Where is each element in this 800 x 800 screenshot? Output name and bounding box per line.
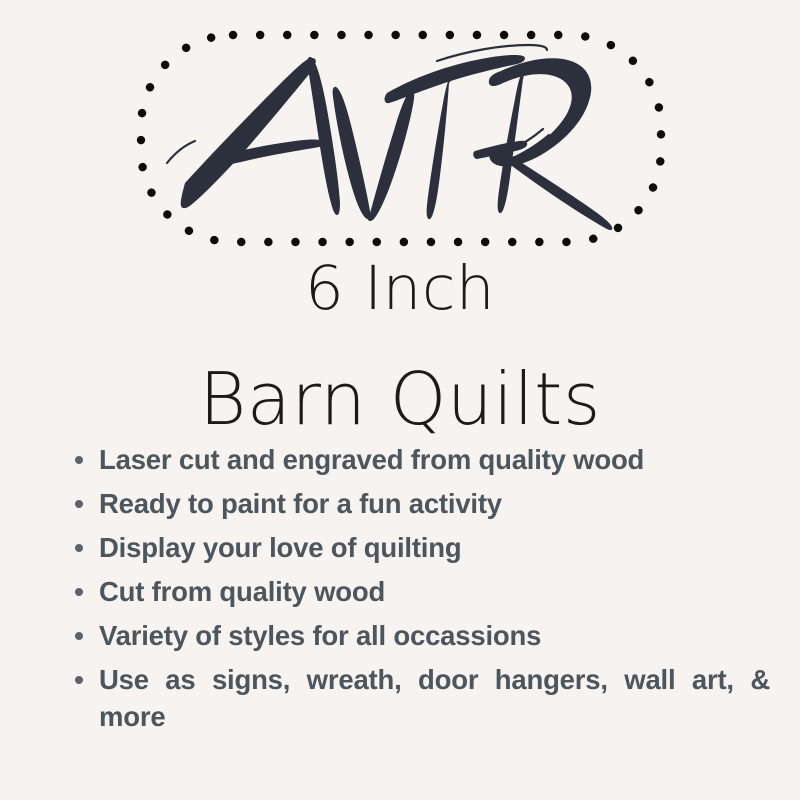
feature-text: Ready to paint for a fun activity (99, 485, 770, 522)
bullet-dot-icon (75, 632, 83, 640)
feature-text: Laser cut and engraved from quality wood (99, 441, 770, 478)
list-item: Laser cut and engraved from quality wood (70, 441, 770, 478)
list-item: Display your love of quilting (70, 529, 770, 566)
list-item: Variety of styles for all occassions (70, 617, 770, 654)
feature-list: Laser cut and engraved from quality wood… (70, 441, 770, 742)
bullet-dot-icon (75, 544, 83, 552)
bullet-dot-icon (75, 588, 83, 596)
bullet-dot-icon (75, 676, 83, 684)
page-title: Barn Quilts (0, 319, 800, 435)
list-item: Use as signs, wreath, door hangers, wall… (70, 661, 770, 735)
product-info-poster: 6 Inch Barn Quilts Laser cut and engrave… (0, 0, 800, 800)
avtr-logo-badge (137, 31, 665, 246)
list-item: Ready to paint for a fun activity (70, 485, 770, 522)
avtr-script-wordmark-icon (137, 31, 665, 246)
bullet-dot-icon (75, 456, 83, 464)
list-item: Cut from quality wood (70, 573, 770, 610)
feature-text: Cut from quality wood (99, 573, 770, 610)
feature-text: Use as signs, wreath, door hangers, wall… (99, 661, 770, 735)
heading-block: 6 Inch Barn Quilts (0, 258, 800, 435)
bullet-dot-icon (75, 500, 83, 508)
feature-text: Variety of styles for all occassions (99, 617, 770, 654)
product-size-heading: 6 Inch (0, 258, 800, 319)
feature-text: Display your love of quilting (99, 529, 770, 566)
